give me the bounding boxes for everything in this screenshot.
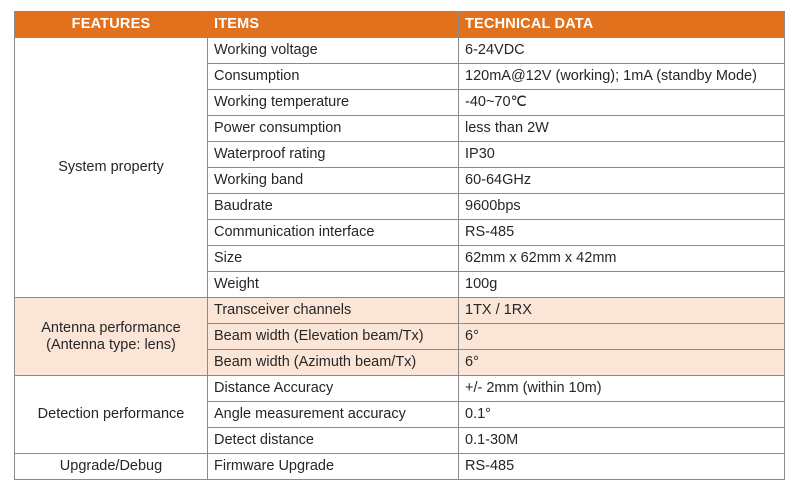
technical-data-cell: 60-64GHz	[459, 168, 785, 194]
technical-data-cell: RS-485	[459, 220, 785, 246]
specification-table-container: FEATURES ITEMS TECHNICAL DATA System pro…	[14, 11, 784, 480]
table-body: System propertyWorking voltage6-24VDCCon…	[15, 38, 785, 480]
table-header-row: FEATURES ITEMS TECHNICAL DATA	[15, 12, 785, 38]
table-row: Detection performanceDistance Accuracy+/…	[15, 376, 785, 402]
item-cell: Distance Accuracy	[208, 376, 459, 402]
feature-group-label: (Antenna type: lens)	[21, 337, 201, 354]
technical-data-cell: 62mm x 62mm x 42mm	[459, 246, 785, 272]
table-row: System propertyWorking voltage6-24VDC	[15, 38, 785, 64]
item-cell: Waterproof rating	[208, 142, 459, 168]
item-cell: Working band	[208, 168, 459, 194]
column-header-items: ITEMS	[208, 12, 459, 38]
technical-data-cell: 100g	[459, 272, 785, 298]
item-cell: Power consumption	[208, 116, 459, 142]
technical-data-cell: IP30	[459, 142, 785, 168]
feature-group-cell: System property	[15, 38, 208, 298]
feature-group-cell: Antenna performance(Antenna type: lens)	[15, 298, 208, 376]
item-cell: Weight	[208, 272, 459, 298]
feature-group-label: Upgrade/Debug	[21, 458, 201, 475]
technical-data-cell: RS-485	[459, 454, 785, 480]
feature-group-cell: Upgrade/Debug	[15, 454, 208, 480]
technical-data-cell: 6°	[459, 324, 785, 350]
table-row: Antenna performance(Antenna type: lens)T…	[15, 298, 785, 324]
technical-data-cell: less than 2W	[459, 116, 785, 142]
technical-data-cell: 1TX / 1RX	[459, 298, 785, 324]
technical-data-cell: 9600bps	[459, 194, 785, 220]
column-header-technical-data: TECHNICAL DATA	[459, 12, 785, 38]
item-cell: Beam width (Azimuth beam/Tx)	[208, 350, 459, 376]
technical-data-cell: -40~70℃	[459, 90, 785, 116]
item-cell: Communication interface	[208, 220, 459, 246]
item-cell: Detect distance	[208, 428, 459, 454]
technical-data-cell: 6-24VDC	[459, 38, 785, 64]
item-cell: Consumption	[208, 64, 459, 90]
column-header-features: FEATURES	[15, 12, 208, 38]
feature-group-label: Antenna performance	[21, 320, 201, 337]
specification-table: FEATURES ITEMS TECHNICAL DATA System pro…	[14, 11, 785, 480]
item-cell: Size	[208, 246, 459, 272]
technical-data-cell: 0.1-30M	[459, 428, 785, 454]
table-header: FEATURES ITEMS TECHNICAL DATA	[15, 12, 785, 38]
item-cell: Beam width (Elevation beam/Tx)	[208, 324, 459, 350]
technical-data-cell: 120mA@12V (working); 1mA (standby Mode)	[459, 64, 785, 90]
technical-data-cell: +/- 2mm (within 10m)	[459, 376, 785, 402]
feature-group-label: System property	[21, 159, 201, 176]
item-cell: Firmware Upgrade	[208, 454, 459, 480]
technical-data-cell: 6°	[459, 350, 785, 376]
item-cell: Working voltage	[208, 38, 459, 64]
technical-data-cell: 0.1°	[459, 402, 785, 428]
feature-group-cell: Detection performance	[15, 376, 208, 454]
item-cell: Working temperature	[208, 90, 459, 116]
item-cell: Angle measurement accuracy	[208, 402, 459, 428]
item-cell: Baudrate	[208, 194, 459, 220]
feature-group-label: Detection performance	[21, 406, 201, 423]
table-row: Upgrade/DebugFirmware UpgradeRS-485	[15, 454, 785, 480]
item-cell: Transceiver channels	[208, 298, 459, 324]
